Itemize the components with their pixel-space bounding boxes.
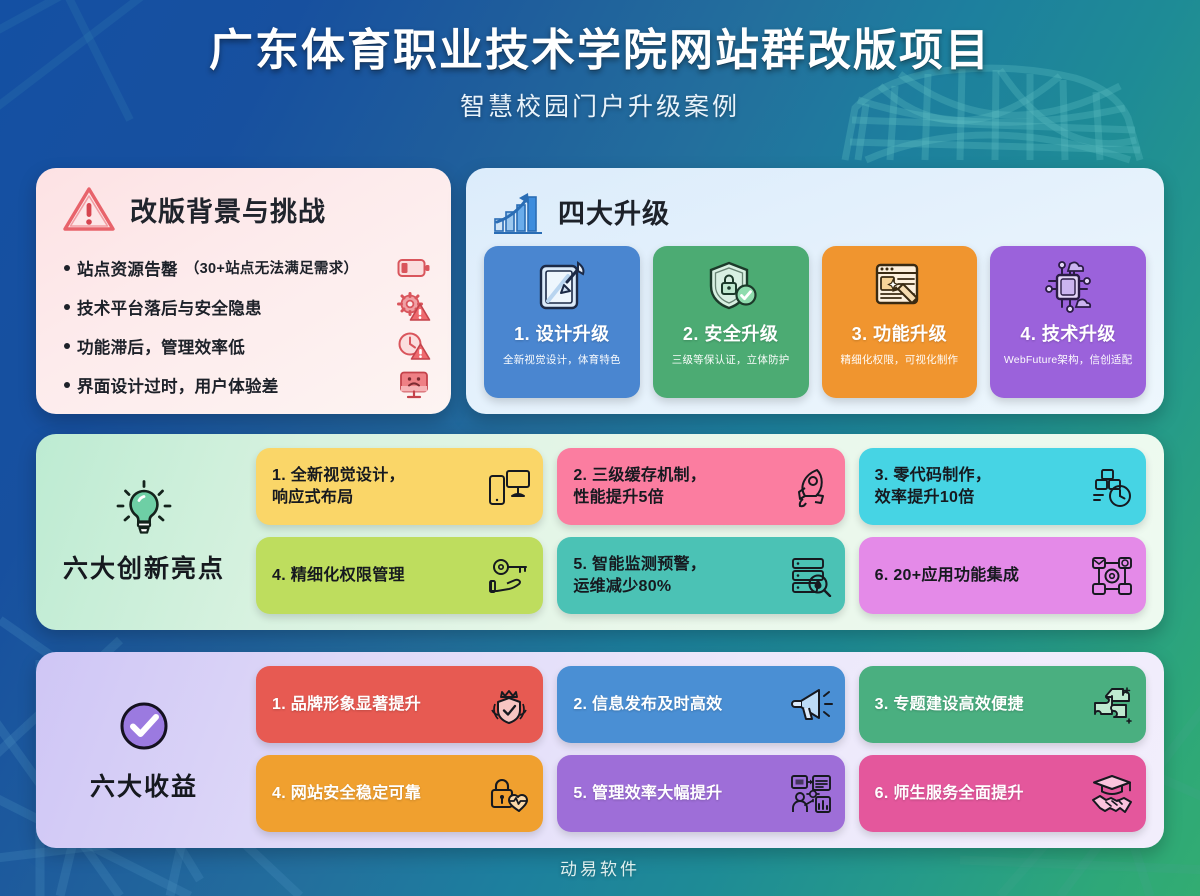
upgrade-card-design[interactable]: 1. 设计升级 全新视觉设计，体育特色 [484,246,640,398]
benefit-label: 4. 网站安全稳定可靠 [272,783,421,804]
upgrades-heading: 四大升级 [558,192,670,231]
check-circle-icon [112,697,176,759]
upgrade-title: 3. 功能升级 [852,320,948,346]
highlight-chip[interactable]: 6. 20+应用功能集成 [859,537,1146,614]
highlights-grid: 1. 全新视觉设计， 响应式布局 2. 三级缓存机制， 性能提升5倍 3. 零代… [252,434,1164,630]
benefit-label: 5. 管理效率大幅提升 [573,783,722,804]
challenge-note: （30+站点无法满足需求） [185,257,359,278]
highlight-label: 4. 精细化权限管理 [272,565,405,586]
key-hand-icon [487,555,531,597]
upgrade-title: 2. 安全升级 [683,320,779,346]
challenge-item: 功能滞后，管理效率低 [56,326,431,365]
highlight-chip[interactable]: 5. 智能监测预警， 运维减少80% [557,537,844,614]
highlight-chip[interactable]: 3. 零代码制作， 效率提升10倍 [859,448,1146,525]
benefit-chip[interactable]: 5. 管理效率大幅提升 [557,755,844,832]
shield-lock-icon [703,258,759,316]
upgrade-desc: WebFuture架构，信创适配 [1004,352,1132,367]
upgrade-desc: 精细化权限，可视化制作 [841,352,959,367]
devices-icon [487,466,531,508]
benefit-chip[interactable]: 3. 专题建设高效便捷 [859,666,1146,743]
highlight-chip[interactable]: 4. 精细化权限管理 [256,537,543,614]
blocks-clock-icon [1090,466,1134,508]
benefit-chip[interactable]: 2. 信息发布及时高效 [557,666,844,743]
highlights-label: 六大创新亮点 [36,434,252,630]
footer-brand: 动易软件 [0,855,1200,880]
highlight-label: 6. 20+应用功能集成 [875,565,1020,586]
highlight-label: 1. 全新视觉设计， 响应式布局 [272,465,405,507]
upgrade-desc: 三级等保认证，立体防护 [672,352,790,367]
benefit-chip[interactable]: 1. 品牌形象显著提升 [256,666,543,743]
gear-warning-icon [397,292,431,322]
page-subtitle: 智慧校园门户升级案例 [0,87,1200,123]
upgrades-grid: 1. 设计升级 全新视觉设计，体育特色 2. 安全升级 三级等保认证，立体防护 [484,246,1146,398]
sad-monitor-icon [397,370,431,400]
highlights-heading: 六大创新亮点 [63,549,225,585]
warning-triangle-icon [62,184,116,234]
benefits-label: 六大收益 [36,652,252,848]
benefits-heading: 六大收益 [90,767,198,803]
challenge-label: 界面设计过时，用户体验差 [77,373,279,397]
benefits-grid: 1. 品牌形象显著提升 2. 信息发布及时高效 3. 专题建设高效便捷 [252,652,1164,848]
bullet-icon [64,343,70,349]
upgrade-title: 1. 设计升级 [514,320,610,346]
challenges-list: 站点资源告罄 （30+站点无法满足需求） 技术平台落后与安全隐患 [56,248,431,404]
upgrade-title: 4. 技术升级 [1020,320,1116,346]
shield-crown-icon [487,684,531,726]
integration-icon [1090,555,1134,597]
challenge-item: 技术平台落后与安全隐患 [56,287,431,326]
challenge-label: 技术平台落后与安全隐患 [77,295,262,319]
challenges-header: 改版背景与挑战 [56,184,431,234]
benefit-label: 6. 师生服务全面提升 [875,783,1024,804]
dashboard-person-icon [789,773,833,815]
bullet-icon [64,265,70,271]
rocket-icon [789,466,833,508]
puzzle-icon [1090,684,1134,726]
upgrades-header: 四大升级 [484,180,1146,242]
challenge-label: 功能滞后，管理效率低 [77,334,245,358]
growth-chart-icon [492,186,544,236]
upgrades-panel: 四大升级 1. 设计升级 全新视觉设计，体育特色 [466,168,1164,414]
chip-circuit-icon [1040,258,1096,316]
highlight-chip[interactable]: 2. 三级缓存机制， 性能提升5倍 [557,448,844,525]
page-header: 广东体育职业技术学院网站群改版项目 智慧校园门户升级案例 [0,0,1200,123]
megaphone-icon [789,684,833,726]
highlight-label: 5. 智能监测预警， 运维减少80% [573,554,706,596]
benefit-label: 2. 信息发布及时高效 [573,694,722,715]
graduation-handshake-icon [1090,773,1134,815]
benefit-chip[interactable]: 4. 网站安全稳定可靠 [256,755,543,832]
challenge-item: 站点资源告罄 （30+站点无法满足需求） [56,248,431,287]
upgrade-card-tech[interactable]: 4. 技术升级 WebFuture架构，信创适配 [990,246,1146,398]
page-title: 广东体育职业技术学院网站群改版项目 [0,26,1200,75]
benefit-chip[interactable]: 6. 师生服务全面提升 [859,755,1146,832]
challenges-panel: 改版背景与挑战 站点资源告罄 （30+站点无法满足需求） 技术平台落后与安全隐患 [36,168,451,414]
upgrade-card-security[interactable]: 2. 安全升级 三级等保认证，立体防护 [653,246,809,398]
server-search-icon [789,555,833,597]
bullet-icon [64,304,70,310]
highlight-label: 2. 三级缓存机制， 性能提升5倍 [573,465,706,507]
lightbulb-icon [112,479,176,541]
page-wand-icon [871,258,927,316]
clock-warning-icon [397,331,431,361]
benefit-label: 3. 专题建设高效便捷 [875,694,1024,715]
highlight-chip[interactable]: 1. 全新视觉设计， 响应式布局 [256,448,543,525]
challenge-label: 站点资源告罄 [77,256,178,280]
highlight-label: 3. 零代码制作， 效率提升10倍 [875,465,992,507]
battery-low-icon [397,253,431,283]
challenges-heading: 改版背景与挑战 [130,190,326,229]
benefits-panel: 六大收益 1. 品牌形象显著提升 2. 信息发布及时高效 [36,652,1164,848]
bullet-icon [64,382,70,388]
tablet-brush-icon [534,258,590,316]
upgrade-card-feature[interactable]: 3. 功能升级 精细化权限，可视化制作 [822,246,978,398]
benefit-label: 1. 品牌形象显著提升 [272,694,421,715]
lock-heart-icon [487,773,531,815]
challenge-item: 界面设计过时，用户体验差 [56,365,431,404]
upgrade-desc: 全新视觉设计，体育特色 [503,352,621,367]
highlights-panel: 六大创新亮点 1. 全新视觉设计， 响应式布局 2. 三级缓存机制， 性能提升5… [36,434,1164,630]
